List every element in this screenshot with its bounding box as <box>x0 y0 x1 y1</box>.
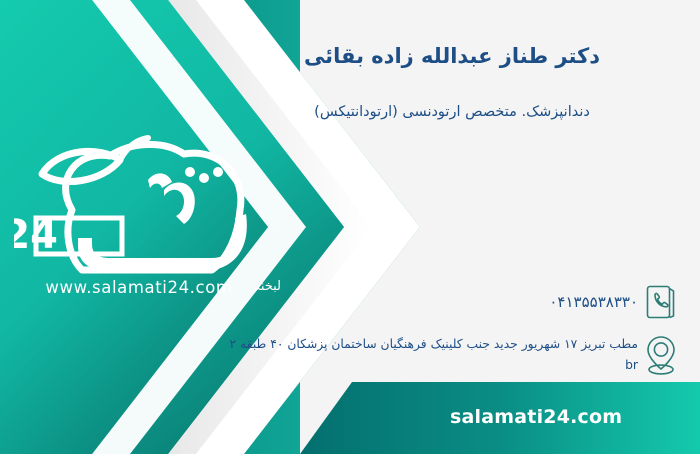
doctor-specialty: دندانپزشک. متخصص ارتودنسی (ارتودانتیکس) <box>232 104 672 120</box>
phone-number[interactable]: ۰۴۱۳۵۵۳۸۳۳۰ <box>214 293 638 311</box>
location-pin-icon <box>638 333 684 377</box>
clinic-address: مطب تبریز ۱۷ شهریور جدید جنب کلینیک فرهن… <box>214 334 638 376</box>
contact-row-address: مطب تبریز ۱۷ شهریور جدید جنب کلینیک فرهن… <box>214 333 684 377</box>
phonebook-icon <box>638 283 684 321</box>
contact-row-phone: ۰۴۱۳۵۵۳۸۳۳۰ <box>214 283 684 321</box>
contact-section: ۰۴۱۳۵۵۳۸۳۳۰ مطب تبریز ۱۷ شهریور جدید جنب… <box>214 283 684 389</box>
business-card: 24 به راحتی یک لبخند www.salamati24.com … <box>0 0 700 454</box>
doctor-name: دکتر طناز عبدالله زاده بقائی <box>232 44 672 68</box>
footer-website[interactable]: salamati24.com <box>450 406 622 428</box>
apple-leaf <box>42 151 120 181</box>
